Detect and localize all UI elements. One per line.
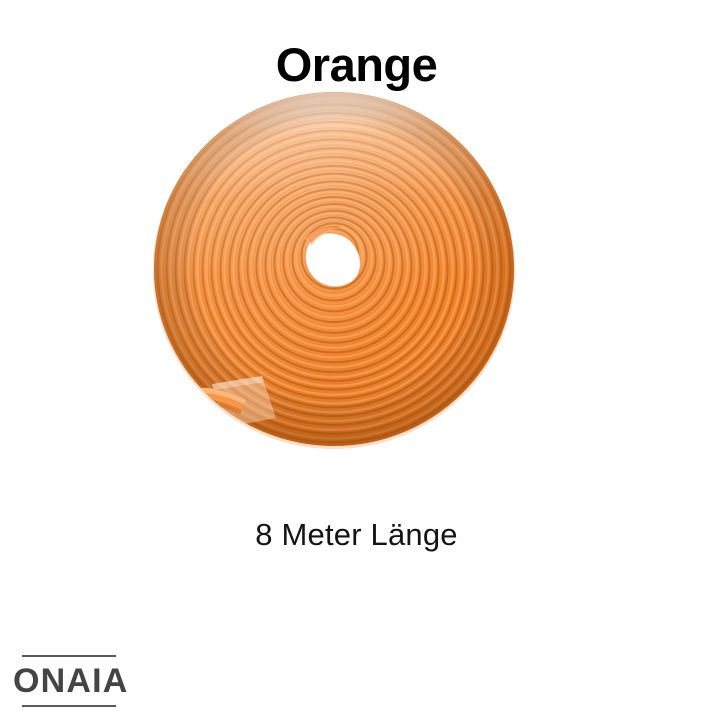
brand-rule-top <box>22 655 116 657</box>
product-length-caption: 8 Meter Länge <box>0 516 713 554</box>
brand-rule-bottom <box>22 705 116 707</box>
product-image-card: Orange <box>0 0 713 713</box>
product-photo-orange-coil <box>150 88 518 450</box>
brand-wordmark: ONAIA <box>13 663 203 699</box>
coil-illustration <box>150 88 518 450</box>
page-title: Orange <box>0 38 713 92</box>
brand-logo: ONAIA <box>13 655 203 707</box>
